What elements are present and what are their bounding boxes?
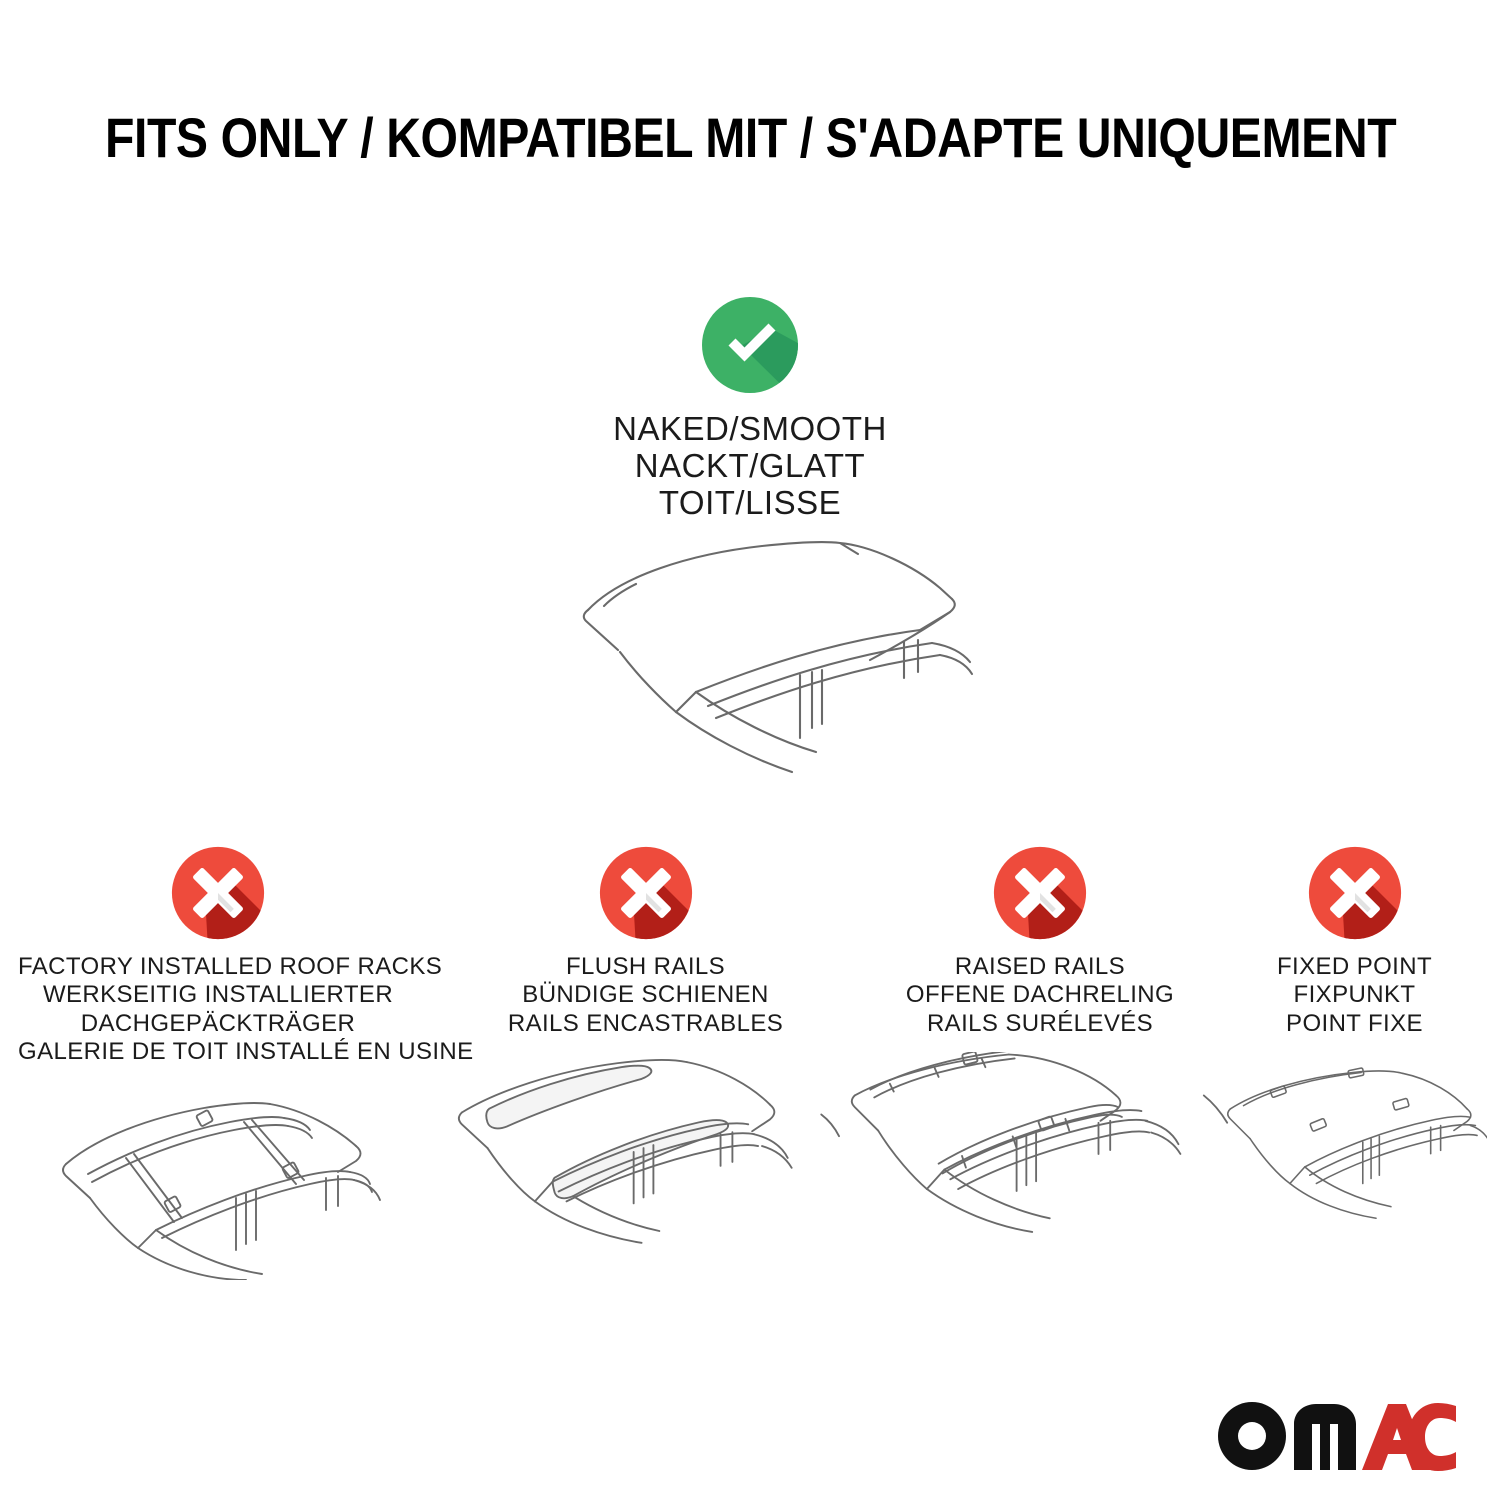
compatible-label-de: NACKT/GLATT [450, 448, 1050, 485]
label-de-line2: DACHGEPÄCKTRÄGER [18, 1010, 418, 1038]
logo-letter-o [1218, 1402, 1286, 1470]
incompatible-item-factory-installed-roof-racks: FACTORY INSTALLED ROOF RACKS WERKSEITIG … [18, 845, 418, 1280]
label-en: RAISED RAILS [845, 953, 1235, 981]
x-circle-icon [992, 845, 1088, 941]
incompatible-item-flush-rails: FLUSH RAILS BÜNDIGE SCHIENEN RAILS ENCAS… [448, 845, 843, 1252]
incompatible-labels: FACTORY INSTALLED ROOF RACKS WERKSEITIG … [18, 953, 418, 1066]
label-fr: RAILS SURÉLEVÉS [845, 1010, 1235, 1038]
label-de: BÜNDIGE SCHIENEN [448, 981, 843, 1009]
car-roof-fixed-point-illustration [1222, 1052, 1487, 1252]
incompatible-labels: FIXED POINT FIXPUNKT POINT FIXE [1222, 953, 1487, 1038]
label-fr: POINT FIXE [1222, 1010, 1487, 1038]
label-en: FLUSH RAILS [448, 953, 843, 981]
car-roof-factory-racks-illustration [18, 1080, 418, 1280]
incompatible-labels: FLUSH RAILS BÜNDIGE SCHIENEN RAILS ENCAS… [448, 953, 843, 1038]
incompatible-row: FACTORY INSTALLED ROOF RACKS WERKSEITIG … [0, 845, 1500, 1345]
x-circle-icon [170, 845, 266, 941]
check-circle-icon [700, 295, 800, 395]
incompatible-item-raised-rails: RAISED RAILS OFFENE DACHRELING RAILS SUR… [845, 845, 1235, 1252]
car-roof-flush-rails-illustration [448, 1052, 843, 1252]
label-de: OFFENE DACHRELING [845, 981, 1235, 1009]
label-de-line1: WERKSEITIG INSTALLIERTER [18, 981, 418, 1009]
omac-logo [1216, 1398, 1456, 1474]
label-en: FIXED POINT [1222, 953, 1487, 981]
page-title: FITS ONLY / KOMPATIBEL MIT / S'ADAPTE UN… [105, 105, 1395, 170]
incompatible-labels: RAISED RAILS OFFENE DACHRELING RAILS SUR… [845, 953, 1235, 1038]
logo-letter-m [1294, 1404, 1356, 1470]
compatible-labels: NAKED/SMOOTH NACKT/GLATT TOIT/LISSE [450, 411, 1050, 522]
label-fr: GALERIE DE TOIT INSTALLÉ EN USINE [18, 1038, 418, 1066]
incompatible-item-fixed-point: FIXED POINT FIXPUNKT POINT FIXE [1222, 845, 1487, 1252]
label-de: FIXPUNKT [1222, 981, 1487, 1009]
label-fr: RAILS ENCASTRABLES [448, 1010, 843, 1038]
label-en: FACTORY INSTALLED ROOF RACKS [18, 953, 418, 981]
compatible-block: NAKED/SMOOTH NACKT/GLATT TOIT/LISSE [450, 295, 1050, 522]
x-circle-icon [1307, 845, 1403, 941]
infographic-page: FITS ONLY / KOMPATIBEL MIT / S'ADAPTE UN… [0, 0, 1500, 1500]
compatible-label-en: NAKED/SMOOTH [450, 411, 1050, 448]
car-roof-naked-smooth-illustration [500, 510, 1000, 800]
x-circle-icon [598, 845, 694, 941]
car-roof-raised-rails-illustration [845, 1052, 1235, 1252]
